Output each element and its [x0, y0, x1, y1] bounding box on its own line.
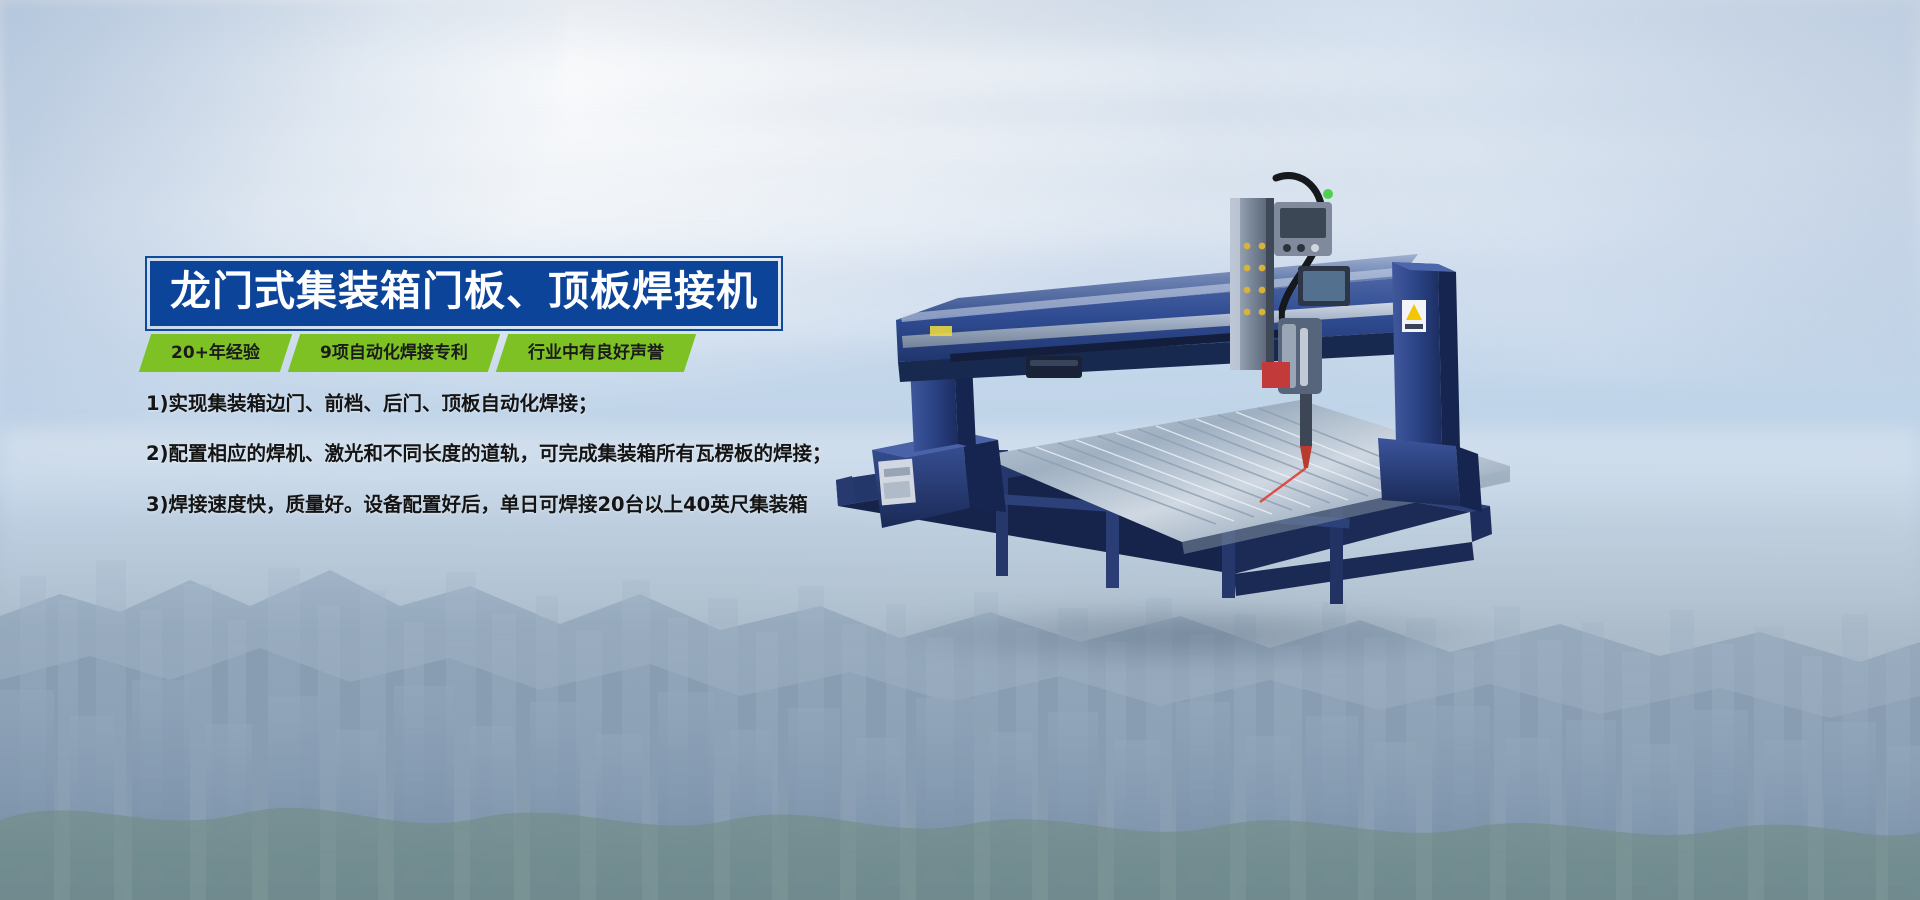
feature-tag-list: 20+年经验 9项自动化焊接专利 行业中有良好声誉 — [145, 334, 690, 372]
beam-mounted-box — [1026, 356, 1082, 378]
bullet-line-2: 2)配置相应的焊机、激光和不同长度的道轨，可完成集装箱所有瓦楞板的焊接； — [146, 442, 906, 465]
feature-tag-label: 9项自动化焊接专利 — [320, 334, 468, 372]
feature-tag-label: 行业中有良好声誉 — [528, 334, 664, 372]
feature-tag-experience: 20+年经验 — [139, 334, 292, 372]
title-outer-border: 龙门式集装箱门板、顶板焊接机 — [145, 256, 783, 331]
hero-content: 龙门式集装箱门板、顶板焊接机 20+年经验 9项自动化焊接专利 行业中有良好声誉… — [0, 0, 900, 900]
feature-tag-reputation: 行业中有良好声誉 — [496, 334, 696, 372]
bullet-line-3: 3)焊接速度快，质量好。设备配置好后，单日可焊接20台以上40英尺集装箱 — [146, 493, 906, 516]
feature-tag-patents: 9项自动化焊接专利 — [288, 334, 500, 372]
hero-banner: 龙门式集装箱门板、顶板焊接机 20+年经验 9项自动化焊接专利 行业中有良好声誉… — [0, 0, 1920, 900]
right-column — [1378, 262, 1482, 512]
feature-tag-label: 20+年经验 — [171, 334, 260, 372]
bullet-line-1: 1)实现集装箱边门、前档、后门、顶板自动化焊接； — [146, 392, 906, 415]
title-box: 龙门式集装箱门板、顶板焊接机 — [150, 261, 778, 326]
product-image-gantry-welder — [830, 150, 1510, 670]
page-title: 龙门式集装箱门板、顶板焊接机 — [170, 270, 758, 313]
feature-bullet-list: 1)实现集装箱边门、前档、后门、顶板自动化焊接； 2)配置相应的焊机、激光和不同… — [146, 392, 906, 516]
title-container: 龙门式集装箱门板、顶板焊接机 — [145, 256, 783, 331]
